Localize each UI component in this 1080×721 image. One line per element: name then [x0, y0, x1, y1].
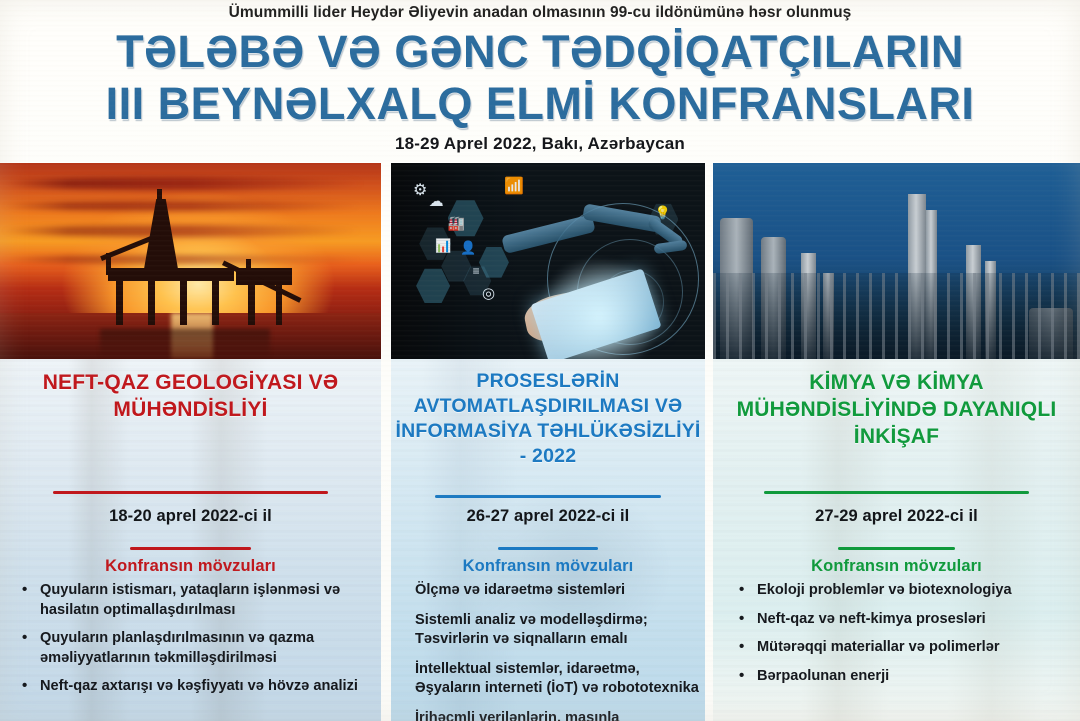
content-band: NEFT-QAZ GEOLOGİYASI VƏ MÜHƏNDİSLİYİ 18-…: [0, 359, 1080, 721]
column-dates: 27-29 aprel 2022-ci il: [713, 507, 1080, 526]
list-item: İrihəcmli verilənlərin, maşınla öyrədmən…: [415, 709, 705, 721]
refinery-scene: [713, 163, 1080, 359]
title-line-2: III BEYNƏLXALQ ELMİ KONFRANSLARI: [0, 78, 1080, 130]
photo-offshore-oil-rig-sunset: [0, 163, 381, 359]
automation-scene: ⚙ ☁ 🏭 📶 📊 👤 ≡ ◎ 💡: [391, 163, 705, 359]
event-date-location: 18-29 Aprel 2022, Bakı, Azərbaycan: [0, 134, 1080, 154]
column-kimya-muhendisliyinde-dayaniqli-inkisaf: KİMYA VƏ KİMYA MÜHƏNDİSLİYİNDƏ DAYANIQLI…: [713, 359, 1080, 721]
divider-rule-bottom: [498, 547, 598, 550]
poster-header: Ümummilli lider Heydər Əliyevin anadan o…: [0, 0, 1080, 163]
list-item: Ekoloji problemlər və biotexnologiya: [735, 581, 1075, 601]
plant-lights: [713, 237, 1080, 359]
chart-icon: 📊: [435, 239, 451, 252]
column-heading: KİMYA VƏ KİMYA MÜHƏNDİSLİYİNDƏ DAYANIQLI…: [713, 369, 1080, 450]
light-glow: [524, 261, 674, 359]
divider-rule-bottom: [838, 547, 955, 550]
topics-label: Konfransın mövzuları: [0, 557, 381, 576]
poster-title: TƏLƏBƏ VƏ GƏNC TƏDQİQATÇILARIN III BEYNƏ…: [0, 26, 1080, 130]
topics-list: Ekoloji problemlər və biotexnologiya Nef…: [735, 581, 1075, 695]
title-line-1: TƏLƏBƏ VƏ GƏNC TƏDQİQATÇILARIN: [116, 26, 964, 77]
column-heading: NEFT-QAZ GEOLOGİYASI VƏ MÜHƏNDİSLİYİ: [0, 369, 381, 423]
sunset-sky: [0, 163, 381, 359]
target-icon: ◎: [482, 286, 495, 301]
column-proseslerin-avtomatlasdirilmasi: PROSESLƏRİN AVTOMATLAŞDIRILMASI VƏ İNFOR…: [391, 359, 705, 721]
cloud-icon: ☁: [429, 194, 444, 209]
factory-icon: 🏭: [448, 216, 465, 230]
divider-rule-top: [764, 491, 1028, 494]
list-item: Bərpaolunan enerji: [735, 667, 1075, 687]
person-icon: 👤: [460, 241, 476, 254]
column-heading: PROSESLƏRİN AVTOMATLAŞDIRILMASI VƏ İNFOR…: [391, 369, 705, 469]
divider-rule-top: [435, 495, 661, 498]
dedication-line: Ümummilli lider Heydər Əliyevin anadan o…: [0, 4, 1080, 22]
column-neft-qaz-geologiyasi: NEFT-QAZ GEOLOGİYASI VƏ MÜHƏNDİSLİYİ 18-…: [0, 359, 381, 721]
list-item: Mütərəqqi materiallar və polimerlər: [735, 638, 1075, 658]
list-item: Quyuların istismarı, yataqların işlənməs…: [18, 581, 364, 620]
list-item: İntellektual sistemlər, idarəetmə, Əşyal…: [415, 660, 705, 699]
conference-poster: Ümummilli lider Heydər Əliyevin anadan o…: [0, 0, 1080, 721]
column-dates: 18-20 aprel 2022-ci il: [0, 507, 381, 526]
topics-label: Konfransın mövzuları: [391, 557, 705, 576]
list-item: Sistemli analiz və modelləşdirmə; Təsvir…: [415, 611, 705, 650]
topics-label: Konfransın mövzuları: [713, 557, 1080, 576]
rig-reflection: [100, 329, 270, 359]
divider-rule-top: [53, 491, 327, 494]
oil-rig-silhouette: [96, 199, 276, 325]
divider-rule-bottom: [130, 547, 252, 550]
photo-band: ⚙ ☁ 🏭 📶 📊 👤 ≡ ◎ 💡: [0, 163, 1080, 359]
list-item: Neft-qaz və neft-kimya prosesləri: [735, 610, 1075, 630]
topics-list: Quyuların istismarı, yataqların işlənməs…: [18, 581, 364, 706]
list-item: Neft-qaz axtarışı və kəşfiyyatı və hövzə…: [18, 677, 364, 697]
column-dates: 26-27 aprel 2022-ci il: [391, 507, 705, 526]
topics-list: Ölçmə və idarəetmə sistemləri Sistemli a…: [415, 581, 705, 721]
tools-icon: ⚙: [413, 183, 427, 199]
list-icon: ≡: [473, 265, 480, 277]
list-item: Quyuların planlaşdırılmasının və qazma ə…: [18, 629, 364, 668]
list-item: Ölçmə və idarəetmə sistemləri: [415, 581, 705, 601]
photo-industrial-automation-iot: ⚙ ☁ 🏭 📶 📊 👤 ≡ ◎ 💡: [391, 163, 705, 359]
photo-petrochemical-refinery-dusk: [713, 163, 1080, 359]
